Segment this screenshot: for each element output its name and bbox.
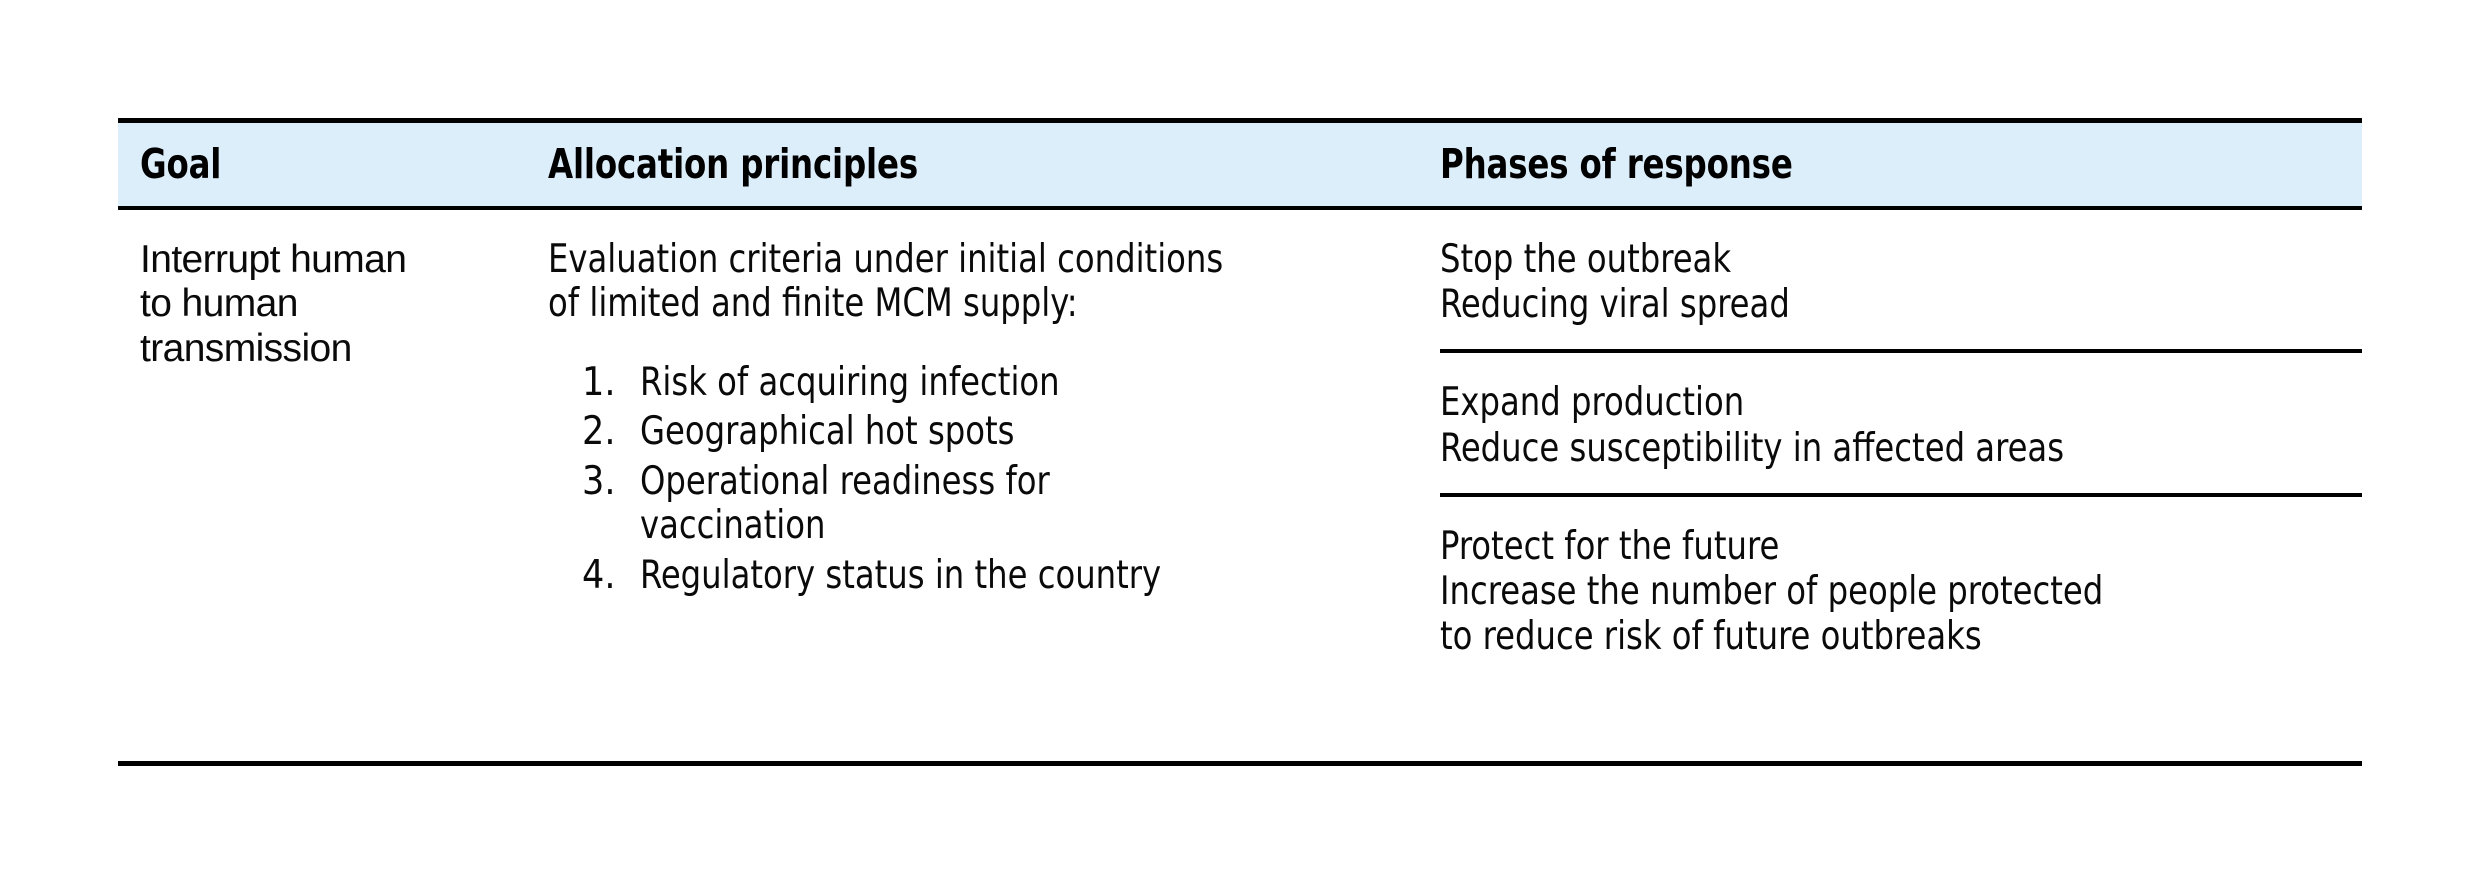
table-body-row: Interrupt human to human transmission Ev… xyxy=(118,210,2362,761)
cell-goal: Interrupt human to human transmission xyxy=(118,210,548,371)
column-header-allocation-principles: Allocation principles xyxy=(548,144,1333,185)
criterion-text: Operational readiness for vaccination xyxy=(640,460,1192,549)
goal-text: Interrupt human to human transmission xyxy=(140,238,548,371)
criterion-text: Risk of acquiring infection xyxy=(640,361,1192,405)
table-figure: Goal Allocation principles Phases of res… xyxy=(0,0,2480,886)
phase-text: Protect for the future Increase the numb… xyxy=(1440,497,2288,682)
column-header-phases-of-response: Phases of response xyxy=(1440,144,2232,185)
list-item: Operational readiness for vaccination xyxy=(548,460,1240,549)
list-item: Risk of acquiring infection xyxy=(548,361,1240,405)
phase-block-expand-production: Expand production Reduce susceptibility … xyxy=(1440,353,2362,492)
list-item: Regulatory status in the country xyxy=(548,554,1240,598)
cell-phases-of-response: Stop the outbreak Reducing viral spread … xyxy=(1440,210,2362,682)
criterion-text: Geographical hot spots xyxy=(640,410,1192,454)
list-item: Geographical hot spots xyxy=(548,410,1240,454)
allocation-intro-text: Evaluation criteria under initial condit… xyxy=(548,238,1369,327)
phase-text: Expand production Reduce susceptibility … xyxy=(1440,353,2288,492)
phase-text: Stop the outbreak Reducing viral spread xyxy=(1440,210,2288,349)
column-header-goal: Goal xyxy=(140,144,499,185)
phase-block-protect-for-the-future: Protect for the future Increase the numb… xyxy=(1440,497,2362,682)
table-header-row: Goal Allocation principles Phases of res… xyxy=(118,123,2362,206)
allocation-criteria-list: Risk of acquiring infection Geographical… xyxy=(548,361,1440,598)
criterion-text: Regulatory status in the country xyxy=(640,554,1192,598)
allocation-table: Goal Allocation principles Phases of res… xyxy=(118,118,2362,766)
table-bottom-rule xyxy=(118,761,2362,766)
phase-block-stop-the-outbreak: Stop the outbreak Reducing viral spread xyxy=(1440,210,2362,349)
cell-allocation-principles: Evaluation criteria under initial condit… xyxy=(548,210,1440,603)
